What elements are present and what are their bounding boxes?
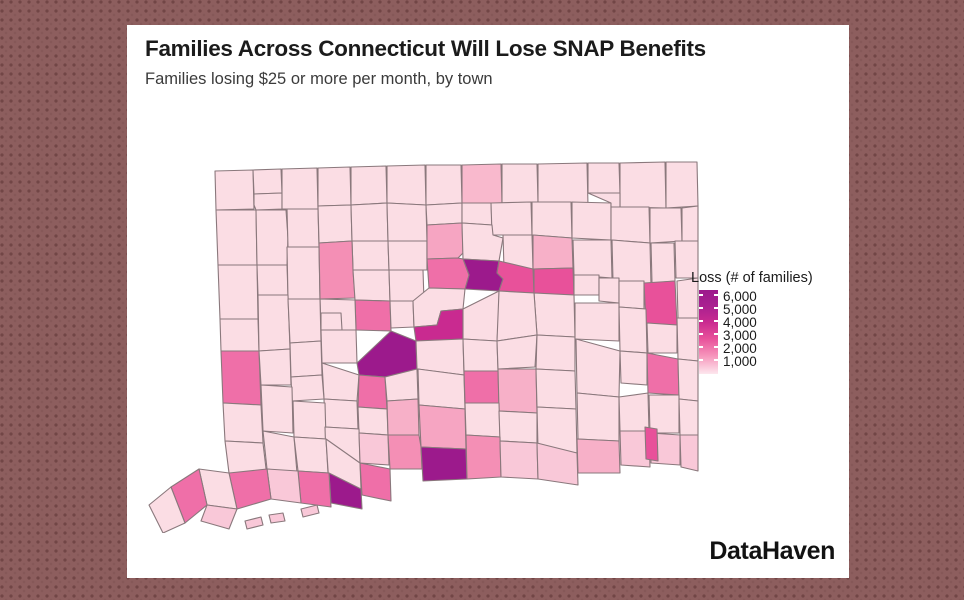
- town-watertown: [321, 330, 357, 363]
- town-union: [588, 163, 620, 193]
- town-westport: [267, 469, 301, 503]
- datahaven-logo: DataHaven: [709, 537, 835, 566]
- legend-tick-mark: [714, 294, 718, 296]
- town-old-saybrook: [577, 439, 620, 473]
- town-thomaston: [321, 313, 342, 330]
- town-suffield: [426, 165, 462, 205]
- town-new-haven: [421, 447, 467, 481]
- town-ashford: [611, 207, 650, 243]
- town-bolton: [574, 275, 599, 295]
- legend-tick-mark: [699, 294, 703, 296]
- town-bristol: [355, 300, 391, 331]
- town-sharon: [216, 210, 257, 265]
- legend-title: Loss (# of families): [691, 270, 841, 286]
- town-orange: [359, 433, 389, 465]
- town-roxbury: [290, 341, 322, 377]
- town-darien: [201, 505, 237, 529]
- legend-tick-mark: [714, 333, 718, 335]
- town-norwich: [647, 353, 679, 395]
- town-new-london: [645, 427, 658, 461]
- town-west-hartford: [427, 258, 469, 289]
- town-east-haddam: [577, 393, 619, 441]
- town-enfield: [462, 164, 502, 203]
- town-wallingford: [465, 403, 500, 437]
- town-goshen: [287, 209, 319, 247]
- town-plainville: [390, 301, 414, 328]
- town-thompson: [666, 162, 698, 208]
- town-litchfield: [287, 247, 320, 299]
- town-eastford: [650, 208, 682, 243]
- legend-tick-mark: [699, 320, 703, 322]
- town-putnam: [682, 206, 698, 241]
- town-windsor-locks: [462, 203, 492, 225]
- town-chaplin: [651, 243, 675, 283]
- town-hebron: [575, 303, 619, 341]
- town-colchester: [576, 339, 620, 397]
- poster-background: Families Across Connecticut Will Lose SN…: [0, 0, 964, 600]
- town-meriden: [464, 371, 499, 403]
- legend-label-1000: 1,000: [723, 355, 757, 369]
- town-coventry: [573, 240, 612, 278]
- town-west-haven: [388, 435, 422, 469]
- coast-fragment-3: [301, 505, 319, 517]
- town-hamden: [419, 405, 466, 449]
- town-warren: [257, 265, 288, 295]
- chart-card: Families Across Connecticut Will Lose SN…: [127, 25, 849, 578]
- town-groton-stonington: [680, 435, 698, 471]
- town-stafford: [538, 163, 588, 206]
- town-monroe: [293, 401, 326, 439]
- town-berlin: [463, 339, 498, 371]
- town-portland: [536, 335, 575, 371]
- town-preston: [679, 399, 698, 435]
- legend-tick-mark: [699, 307, 703, 309]
- town-brookfield: [259, 349, 291, 385]
- coast-fragment-2: [269, 513, 285, 523]
- town-simsbury: [387, 203, 427, 241]
- town-salem: [619, 393, 649, 431]
- town-cromwell: [497, 335, 537, 369]
- town-franklin: [620, 351, 647, 385]
- town-harwinton: [353, 270, 390, 301]
- town-branford: [500, 441, 538, 479]
- map-legend: Loss (# of families): [691, 270, 841, 376]
- map-svg: [141, 113, 701, 533]
- town-colebrook: [318, 167, 351, 206]
- town-glastonbury: [534, 293, 575, 337]
- town-hartland: [351, 166, 387, 205]
- town-easton: [294, 437, 328, 473]
- town-east-haven: [466, 435, 501, 479]
- town-granby: [387, 165, 426, 205]
- town-cheshire: [418, 369, 465, 409]
- town-lebanon: [619, 307, 647, 353]
- town-weston: [263, 431, 297, 473]
- legend-body: 6,000 5,000 4,000 3,000 2,000 1,000: [699, 290, 841, 376]
- town-andover: [599, 278, 619, 303]
- town-montville: [649, 395, 679, 433]
- town-new-hartford: [352, 241, 389, 270]
- legend-tick-mark: [699, 333, 703, 335]
- page-title: Families Across Connecticut Will Lose SN…: [145, 36, 706, 62]
- town-newington: [463, 291, 499, 341]
- town-newtown: [261, 385, 293, 433]
- town-middletown: [498, 369, 537, 413]
- town-east-hampton: [536, 369, 576, 409]
- legend-tick-mark: [714, 346, 718, 348]
- town-washington: [288, 299, 321, 343]
- coast-fragment-1: [245, 517, 263, 529]
- town-danbury: [221, 351, 261, 405]
- legend-tick-mark: [699, 346, 703, 348]
- town-salisbury: [215, 170, 254, 210]
- town-canaan: [254, 193, 282, 210]
- town-torrington: [319, 241, 355, 299]
- town-winchester: [318, 205, 352, 243]
- town-fairfield: [298, 471, 331, 507]
- town-columbia: [619, 281, 644, 309]
- town-ellington: [532, 202, 572, 238]
- town-north-canaan: [253, 169, 282, 194]
- town-east-granby: [426, 203, 462, 225]
- town-naugatuck: [358, 375, 387, 409]
- town-norfolk: [282, 168, 318, 209]
- town-somers: [502, 164, 538, 203]
- town-vernon: [533, 235, 573, 269]
- town-windham: [644, 281, 677, 325]
- town-kent: [218, 265, 258, 319]
- town-woodstock: [620, 162, 666, 208]
- town-east-windsor: [491, 202, 532, 235]
- legend-tick-mark: [714, 359, 718, 361]
- town-seymour: [358, 407, 388, 435]
- town-canton: [388, 241, 427, 270]
- town-durham: [499, 411, 537, 443]
- town-ridgefield: [223, 403, 263, 443]
- town-wethersfield: [497, 291, 537, 341]
- town-sherman: [220, 319, 259, 351]
- town-southbury: [291, 375, 324, 401]
- town-bloomfield: [427, 223, 463, 259]
- town-new-milford: [258, 295, 290, 351]
- connecticut-choropleth-map: [141, 113, 701, 533]
- town-manchester: [534, 268, 574, 295]
- town-scotland: [647, 323, 677, 353]
- town-waterbury: [357, 331, 417, 377]
- legend-tick-mark: [699, 359, 703, 361]
- legend-tick-mark: [714, 320, 718, 322]
- town-barkhamsted: [351, 203, 388, 241]
- legend-colorbar: [699, 290, 718, 374]
- legend-tick-mark: [714, 307, 718, 309]
- town-middlebury: [322, 363, 359, 401]
- town-stratford: [360, 463, 391, 501]
- chart-subtitle: Families losing $25 or more per month, b…: [145, 70, 493, 89]
- town-ansonia-derby: [387, 399, 419, 435]
- town-tolland: [572, 202, 611, 240]
- town-cornwall: [256, 210, 288, 265]
- town-oxford: [324, 399, 358, 429]
